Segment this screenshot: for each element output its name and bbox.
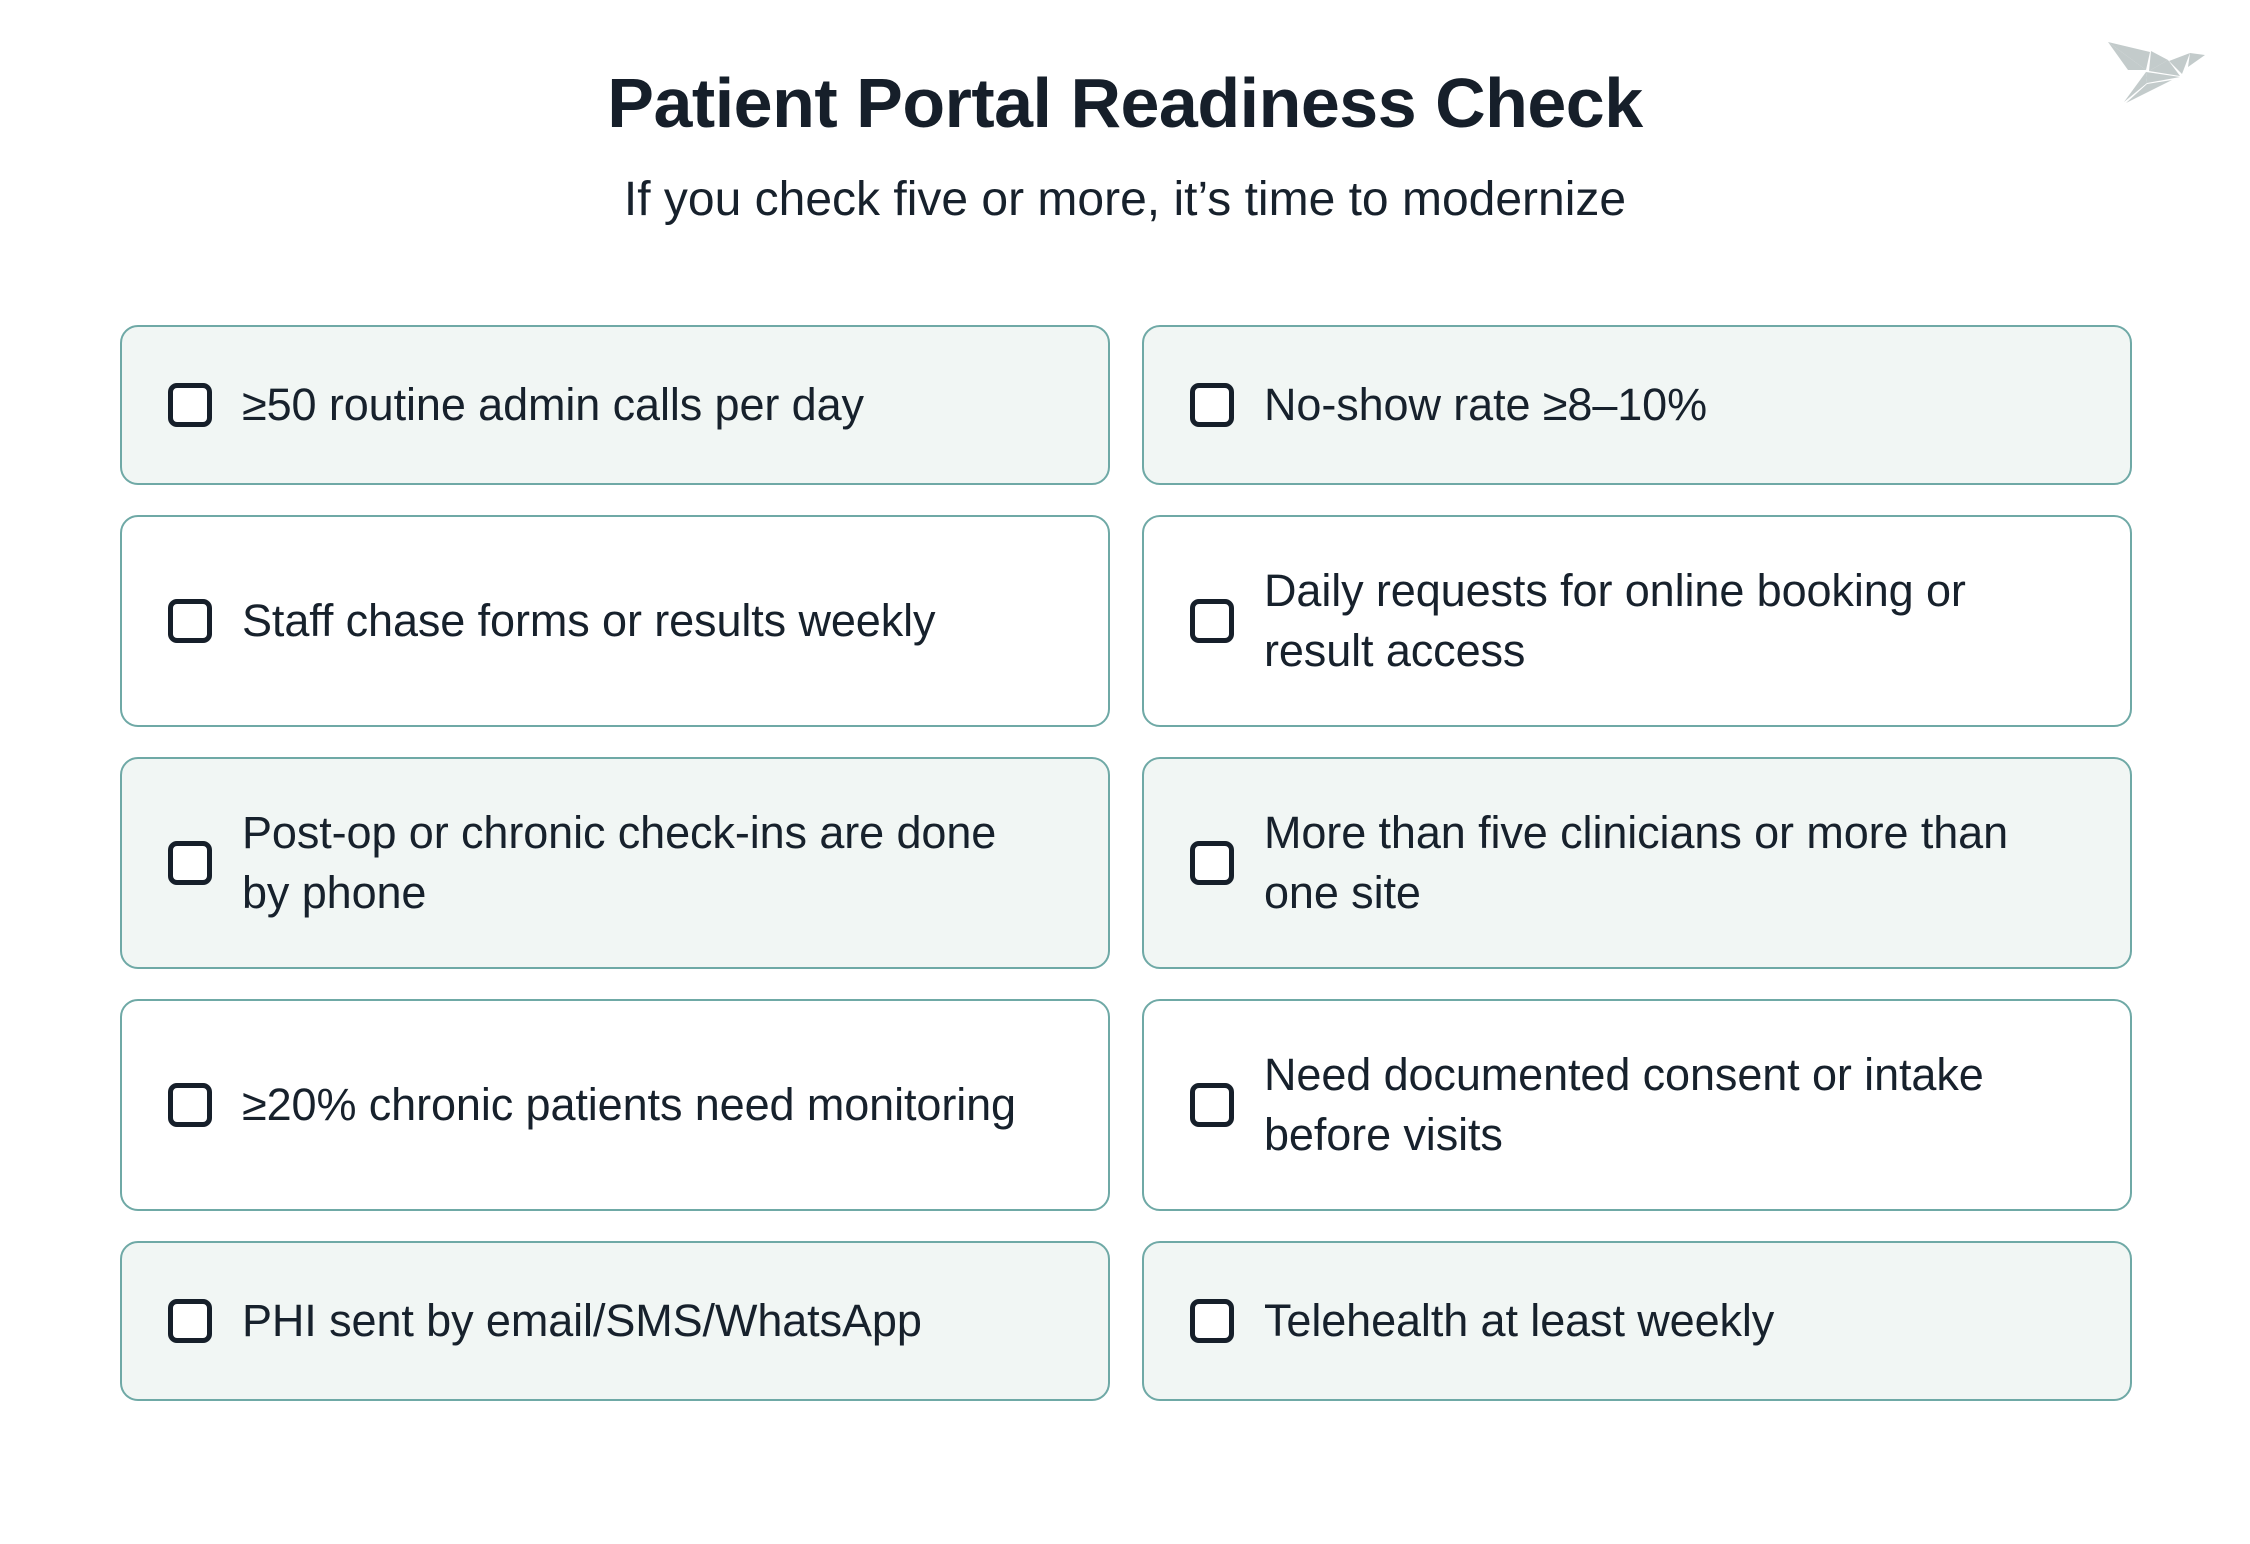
checkbox-icon[interactable] bbox=[1190, 1299, 1234, 1343]
checkbox-icon[interactable] bbox=[1190, 1083, 1234, 1127]
checkbox-icon[interactable] bbox=[1190, 383, 1234, 427]
checklist-item[interactable]: More than five clinicians or more than o… bbox=[1142, 757, 2132, 969]
page-subtitle: If you check five or more, it’s time to … bbox=[0, 174, 2250, 227]
checklist-item[interactable]: ≥20% chronic patients need monitoring bbox=[120, 999, 1110, 1211]
checklist-item-label: Telehealth at least weekly bbox=[1264, 1291, 1774, 1351]
checklist-item[interactable]: Need documented consent or intake before… bbox=[1142, 999, 2132, 1211]
checkbox-icon[interactable] bbox=[168, 1299, 212, 1343]
checklist-item-label: ≥50 routine admin calls per day bbox=[242, 375, 864, 435]
checklist-item-label: Daily requests for online booking or res… bbox=[1264, 561, 2054, 681]
checkbox-icon[interactable] bbox=[168, 599, 212, 643]
checklist-item-label: Post-op or chronic check-ins are done by… bbox=[242, 803, 1032, 923]
checklist-item-label: PHI sent by email/SMS/WhatsApp bbox=[242, 1291, 922, 1351]
checklist-item-label: No-show rate ≥8–10% bbox=[1264, 375, 1707, 435]
checklist-item[interactable]: Daily requests for online booking or res… bbox=[1142, 515, 2132, 727]
checklist-item[interactable]: Post-op or chronic check-ins are done by… bbox=[120, 757, 1110, 969]
page-header: Patient Portal Readiness Check If you ch… bbox=[0, 0, 2250, 226]
readiness-check-page: Patient Portal Readiness Check If you ch… bbox=[0, 0, 2250, 1544]
checklist-item-label: ≥20% chronic patients need monitoring bbox=[242, 1075, 1016, 1135]
checklist-item[interactable]: Telehealth at least weekly bbox=[1142, 1241, 2132, 1401]
checklist-item[interactable]: ≥50 routine admin calls per day bbox=[120, 325, 1110, 485]
checklist-grid: ≥50 routine admin calls per day No-show … bbox=[120, 325, 2132, 1401]
checklist-item-label: Need documented consent or intake before… bbox=[1264, 1045, 2054, 1165]
checkbox-icon[interactable] bbox=[168, 1083, 212, 1127]
checklist-item[interactable]: No-show rate ≥8–10% bbox=[1142, 325, 2132, 485]
checklist-item-label: More than five clinicians or more than o… bbox=[1264, 803, 2054, 923]
page-title: Patient Portal Readiness Check bbox=[0, 66, 2250, 142]
checkbox-icon[interactable] bbox=[168, 841, 212, 885]
checklist-item[interactable]: Staff chase forms or results weekly bbox=[120, 515, 1110, 727]
checkbox-icon[interactable] bbox=[1190, 599, 1234, 643]
checkbox-icon[interactable] bbox=[1190, 841, 1234, 885]
checklist-item[interactable]: PHI sent by email/SMS/WhatsApp bbox=[120, 1241, 1110, 1401]
checkbox-icon[interactable] bbox=[168, 383, 212, 427]
checklist-item-label: Staff chase forms or results weekly bbox=[242, 591, 935, 651]
